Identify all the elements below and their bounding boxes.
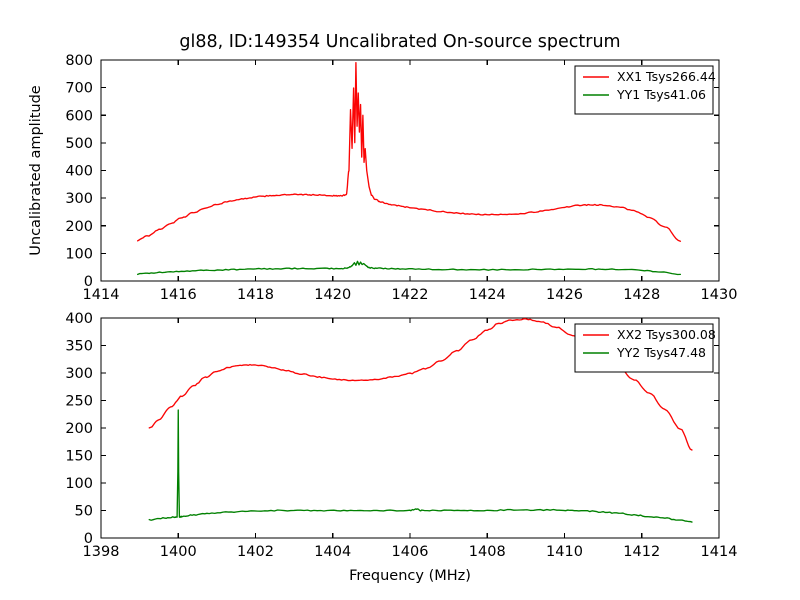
x-tick-label: 1408 (469, 544, 506, 560)
y-tick-label: 100 (65, 476, 93, 492)
x-tick-label: 1426 (546, 287, 583, 303)
y-axis-label: Uncalibrated amplitude (28, 85, 44, 256)
y-tick-label: 50 (75, 504, 93, 520)
y-tick-label: 200 (65, 219, 93, 235)
x-tick-label: 1418 (237, 287, 274, 303)
y-tick-label: 800 (65, 53, 93, 69)
legend-label: XX1 Tsys266.44 (617, 69, 716, 84)
y-tick-label: 400 (65, 311, 93, 327)
x-tick-label: 1400 (160, 544, 197, 560)
y-tick-label: 700 (65, 81, 93, 97)
y-tick-label: 0 (84, 274, 93, 290)
y-tick-label: 100 (65, 246, 93, 262)
x-tick-label: 1404 (314, 544, 351, 560)
legend-label: YY1 Tsys41.06 (616, 87, 706, 102)
legend: XX1 Tsys266.44YY1 Tsys41.06 (575, 66, 716, 114)
x-tick-label: 1422 (392, 287, 429, 303)
x-tick-label: 1414 (701, 544, 738, 560)
legend: XX2 Tsys300.08YY2 Tsys47.48 (575, 324, 716, 372)
x-tick-label: 1410 (546, 544, 583, 560)
y-tick-label: 150 (65, 449, 93, 465)
matplotlib-figure: gl88, ID:149354 Uncalibrated On-source s… (0, 0, 800, 600)
plot-canvas: gl88, ID:149354 Uncalibrated On-source s… (0, 0, 800, 600)
x-axis-label: Frequency (MHz) (349, 568, 471, 584)
y-tick-label: 300 (65, 191, 93, 207)
x-tick-label: 1412 (623, 544, 660, 560)
x-tick-label: 1402 (237, 544, 274, 560)
x-tick-label: 1424 (469, 287, 506, 303)
x-tick-label: 1420 (314, 287, 351, 303)
x-tick-label: 1406 (392, 544, 429, 560)
y-tick-label: 600 (65, 108, 93, 124)
legend-label: YY2 Tsys47.48 (616, 345, 706, 360)
legend-label: XX2 Tsys300.08 (617, 327, 716, 342)
y-tick-label: 250 (65, 394, 93, 410)
y-tick-label: 0 (84, 531, 93, 547)
y-tick-label: 350 (65, 339, 93, 355)
x-tick-label: 1430 (701, 287, 738, 303)
page-title: gl88, ID:149354 Uncalibrated On-source s… (179, 32, 620, 52)
y-tick-label: 400 (65, 164, 93, 180)
y-tick-label: 500 (65, 136, 93, 152)
y-tick-label: 200 (65, 421, 93, 437)
x-tick-label: 1416 (160, 287, 197, 303)
x-tick-label: 1428 (623, 287, 660, 303)
y-tick-label: 300 (65, 366, 93, 382)
